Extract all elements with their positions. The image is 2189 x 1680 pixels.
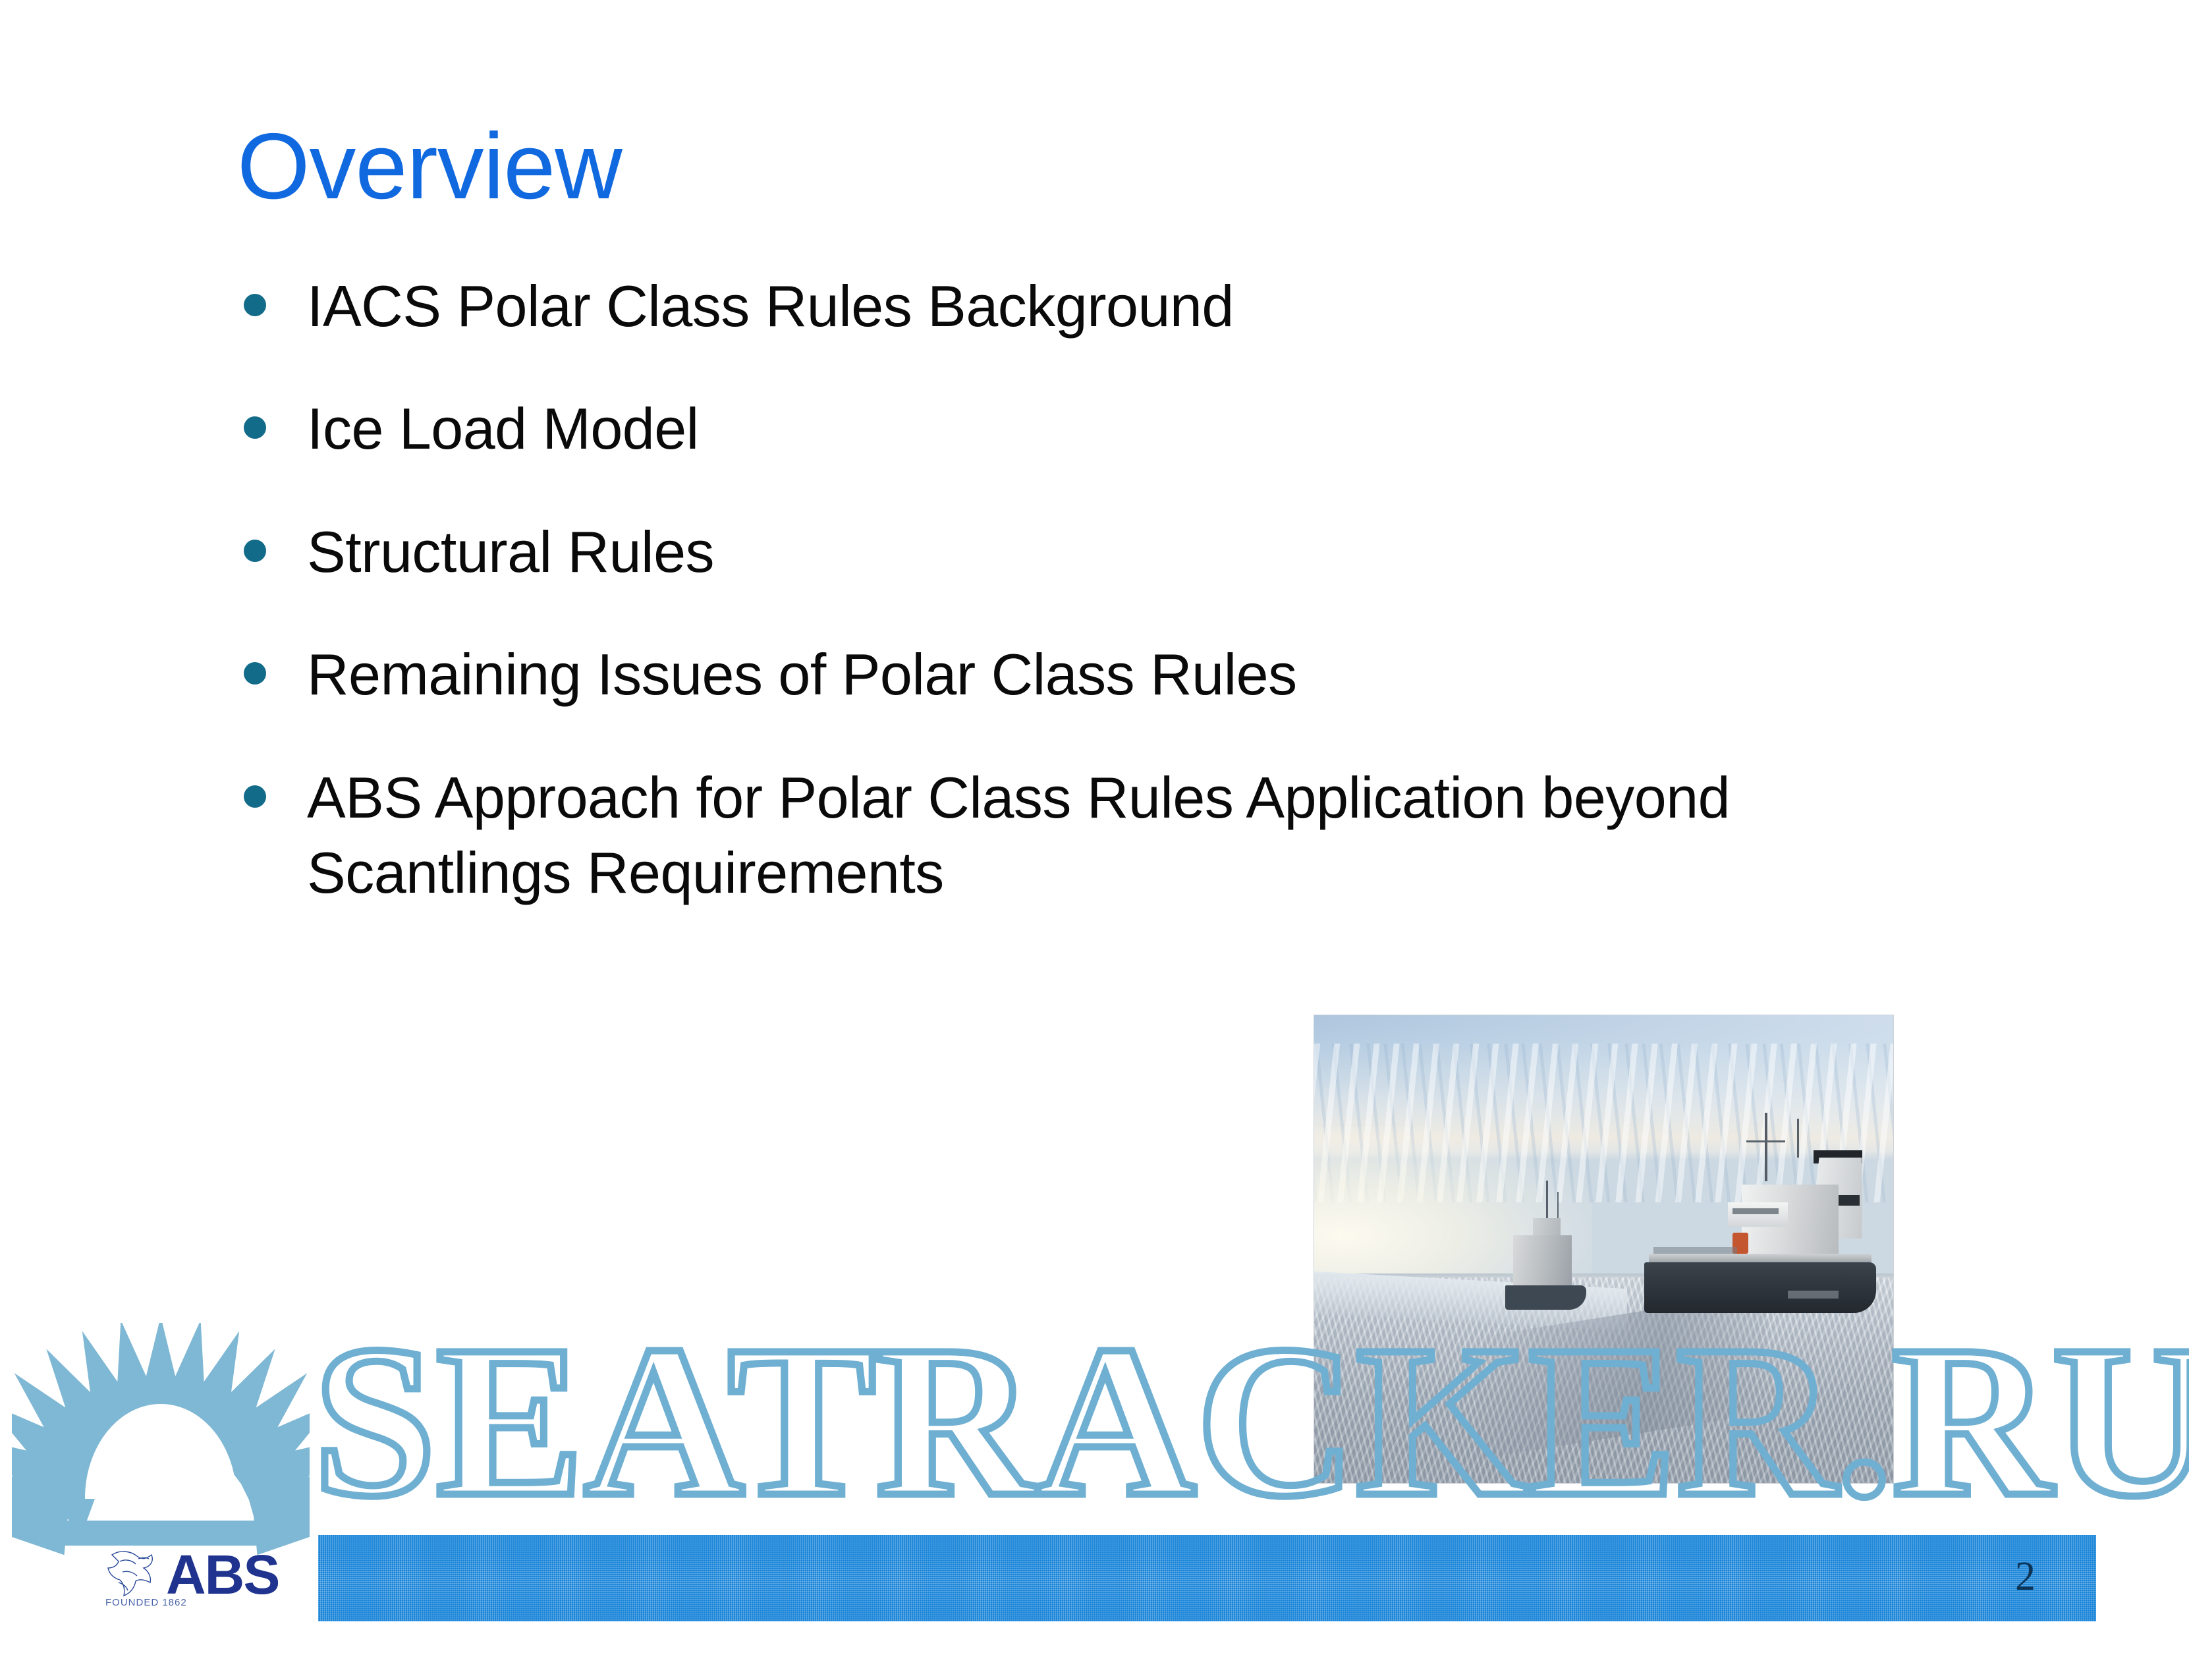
abs-logo: ABS FOUNDED 1862 <box>12 1323 310 1618</box>
footer-bar: 2 <box>318 1535 2096 1621</box>
photo-distant-ship-hull <box>1505 1285 1586 1310</box>
watermark-text-outline: SEATRACKER.RU <box>313 1313 2189 1530</box>
photo-near-ship-mast <box>1765 1113 1767 1182</box>
photo-near-ship-name-plate <box>1788 1291 1839 1298</box>
photo-distant-ship-mast-secondary <box>1557 1192 1559 1220</box>
list-item-label: Ice Load Model <box>307 391 1875 466</box>
photo-near-ship-bridge <box>1728 1202 1788 1226</box>
list-item: Structural Rules <box>244 515 1891 590</box>
abs-letters: ABS <box>166 1547 279 1602</box>
bullet-list: IACS Polar Class Rules Background Ice Lo… <box>244 269 1891 910</box>
list-item: Remaining Issues of Polar Class Rules <box>244 637 1891 712</box>
list-item: ABS Approach for Polar Class Rules Appli… <box>244 760 1891 911</box>
eagle-icon <box>105 1546 162 1600</box>
photo-near-ship-mast-secondary <box>1797 1119 1799 1158</box>
abs-wordmark-group: ABS FOUNDED 1862 <box>105 1540 303 1614</box>
list-item-label: IACS Polar Class Rules Background <box>307 269 1875 344</box>
page-number: 2 <box>2015 1554 2036 1600</box>
photo-near-ship-crossbar <box>1746 1140 1786 1142</box>
bullet-dot-icon <box>244 294 266 316</box>
list-item: Ice Load Model <box>244 391 1891 466</box>
list-item-label: ABS Approach for Polar Class Rules Appli… <box>307 760 1875 911</box>
arctic-cargo-ships-photo <box>1314 1015 1893 1483</box>
bullet-dot-icon <box>244 785 266 808</box>
page-title: Overview <box>237 117 622 215</box>
photo-distant-ship <box>1505 1216 1586 1310</box>
photo-near-ship-hull <box>1644 1262 1876 1313</box>
list-item: IACS Polar Class Rules Background <box>244 269 1891 344</box>
watermark-text-solid: SEATRACKER.RU <box>313 1313 2189 1530</box>
photo-near-ship <box>1644 1169 1876 1319</box>
bullet-dot-icon <box>244 540 266 562</box>
photo-near-ship-railing <box>1653 1247 1737 1253</box>
bullet-dot-icon <box>244 416 266 439</box>
photo-distant-ship-house <box>1513 1235 1572 1288</box>
seatracker-watermark: SEATRACKER.RU SEATRACKER.RU <box>313 1313 2189 1530</box>
photo-distant-ship-mast <box>1546 1181 1548 1223</box>
photo-near-ship-bridge-windows <box>1732 1208 1779 1214</box>
abs-founded-text: FOUNDED 1862 <box>105 1597 187 1608</box>
bullet-dot-icon <box>244 662 266 685</box>
list-item-label: Structural Rules <box>307 515 1875 590</box>
slide-canvas: Overview IACS Polar Class Rules Backgrou… <box>0 0 2189 1680</box>
list-item-label: Remaining Issues of Polar Class Rules <box>307 637 1875 712</box>
